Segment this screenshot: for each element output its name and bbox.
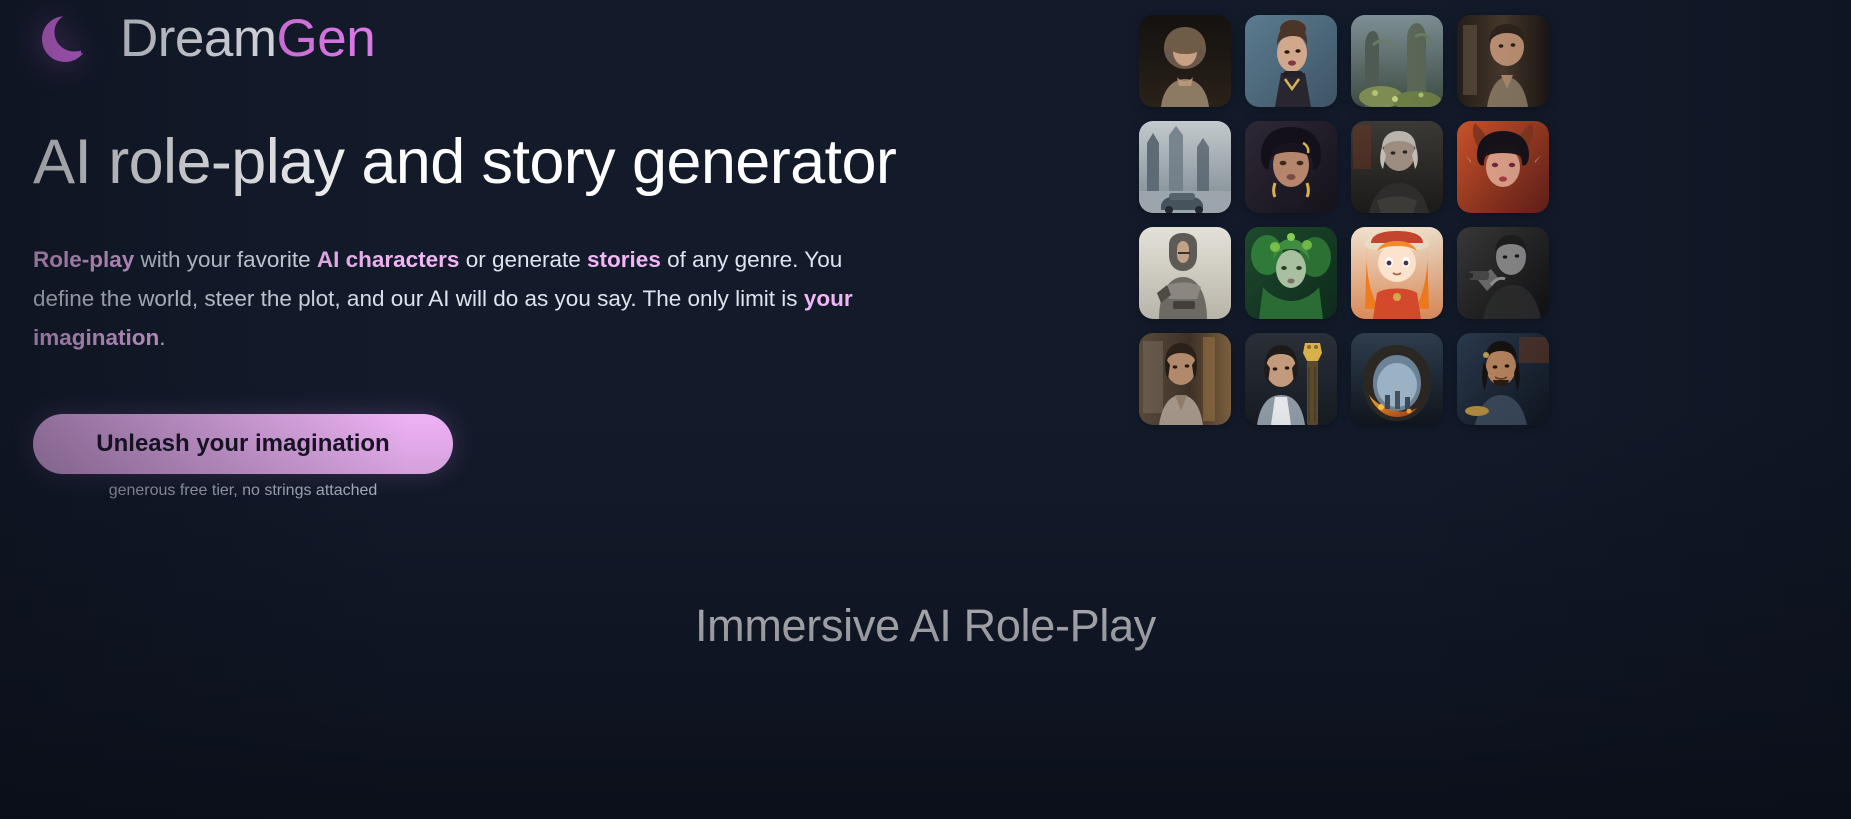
gallery-thumbnail-10[interactable] — [1245, 227, 1337, 319]
hero-emphasis: Role-play — [33, 247, 134, 272]
crescent-moon-icon — [34, 6, 98, 70]
hero-text: or generate — [459, 247, 587, 272]
brand-wordmark: DreamGen — [120, 12, 375, 65]
cta-caption: generous free tier, no strings attached — [33, 482, 453, 500]
gallery-thumbnail-12[interactable] — [1457, 227, 1549, 319]
page-root: DreamGen AI role-play and story generato… — [0, 0, 1851, 819]
gallery-thumbnail-4[interactable] — [1457, 15, 1549, 107]
gallery-thumbnail-1[interactable] — [1139, 15, 1231, 107]
hero-text: . — [159, 325, 165, 350]
section-heading: Immersive AI Role-Play — [0, 600, 1851, 652]
page-title: AI role-play and story generator — [33, 128, 896, 196]
gallery-thumbnail-9[interactable] — [1139, 227, 1231, 319]
gallery-thumbnail-15[interactable] — [1351, 333, 1443, 425]
gallery-thumbnail-8[interactable] — [1457, 121, 1549, 213]
gallery-thumbnail-13[interactable] — [1139, 333, 1231, 425]
hero-text: with your favorite — [134, 247, 317, 272]
hero-emphasis: stories — [587, 247, 661, 272]
brand-name-primary: Dream — [120, 9, 277, 68]
gallery-thumbnail-7[interactable] — [1351, 121, 1443, 213]
hero-emphasis: AI characters — [317, 247, 460, 272]
brand-logo[interactable]: DreamGen — [34, 6, 375, 70]
unleash-your-imagination-button[interactable]: Unleash your imagination — [33, 414, 453, 474]
gallery-thumbnail-11[interactable] — [1351, 227, 1443, 319]
character-gallery-grid — [1139, 15, 1549, 425]
gallery-thumbnail-3[interactable] — [1351, 15, 1443, 107]
brand-name-accent: Gen — [277, 9, 376, 68]
gallery-thumbnail-6[interactable] — [1245, 121, 1337, 213]
gallery-thumbnail-14[interactable] — [1245, 333, 1337, 425]
background-vignette — [0, 0, 1851, 819]
gallery-thumbnail-16[interactable] — [1457, 333, 1549, 425]
gallery-thumbnail-2[interactable] — [1245, 15, 1337, 107]
hero-description: Role-play with your favorite AI characte… — [33, 240, 863, 357]
gallery-thumbnail-5[interactable] — [1139, 121, 1231, 213]
